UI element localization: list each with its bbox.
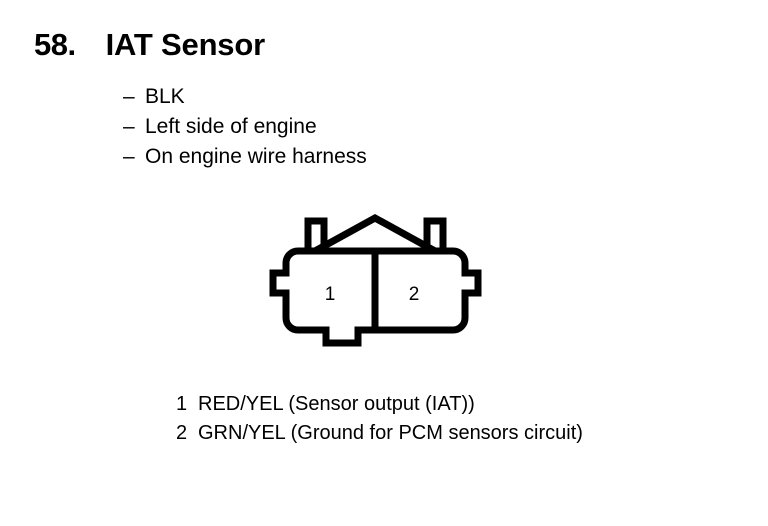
item-number: 58. — [34, 29, 76, 60]
connector-diagram: 1 2 — [258, 205, 498, 355]
legend-row: 1 RED/YEL (Sensor output (IAT)) — [176, 390, 583, 419]
component-attributes-list: – BLK – Left side of engine – On engine … — [123, 82, 367, 172]
list-item: – BLK — [123, 82, 367, 112]
dash-icon: – — [123, 142, 145, 172]
legend-pin-description: GRN/YEL (Ground for PCM sensors circuit) — [198, 419, 583, 448]
component-name: IAT Sensor — [106, 29, 265, 60]
list-item: – Left side of engine — [123, 112, 367, 142]
pin-legend: 1 RED/YEL (Sensor output (IAT)) 2 GRN/YE… — [176, 390, 583, 448]
right-top-tab — [427, 221, 443, 251]
list-item-label: BLK — [145, 82, 185, 112]
latch-ramp-shape — [315, 218, 435, 251]
page-title: 58. IAT Sensor — [34, 29, 265, 60]
connector-outline-svg: 1 2 — [258, 205, 498, 355]
legend-pin-number: 2 — [176, 419, 198, 448]
diagram-page: 58. IAT Sensor – BLK – Left side of engi… — [0, 0, 768, 526]
legend-row: 2 GRN/YEL (Ground for PCM sensors circui… — [176, 419, 583, 448]
list-item-label: Left side of engine — [145, 112, 317, 142]
dash-icon: – — [123, 82, 145, 112]
list-item-label: On engine wire harness — [145, 142, 367, 172]
cavity-number-2: 2 — [409, 284, 420, 305]
legend-pin-description: RED/YEL (Sensor output (IAT)) — [198, 390, 475, 419]
cavity-number-1: 1 — [325, 284, 336, 305]
dash-icon: – — [123, 112, 145, 142]
list-item: – On engine wire harness — [123, 142, 367, 172]
legend-pin-number: 1 — [176, 390, 198, 419]
